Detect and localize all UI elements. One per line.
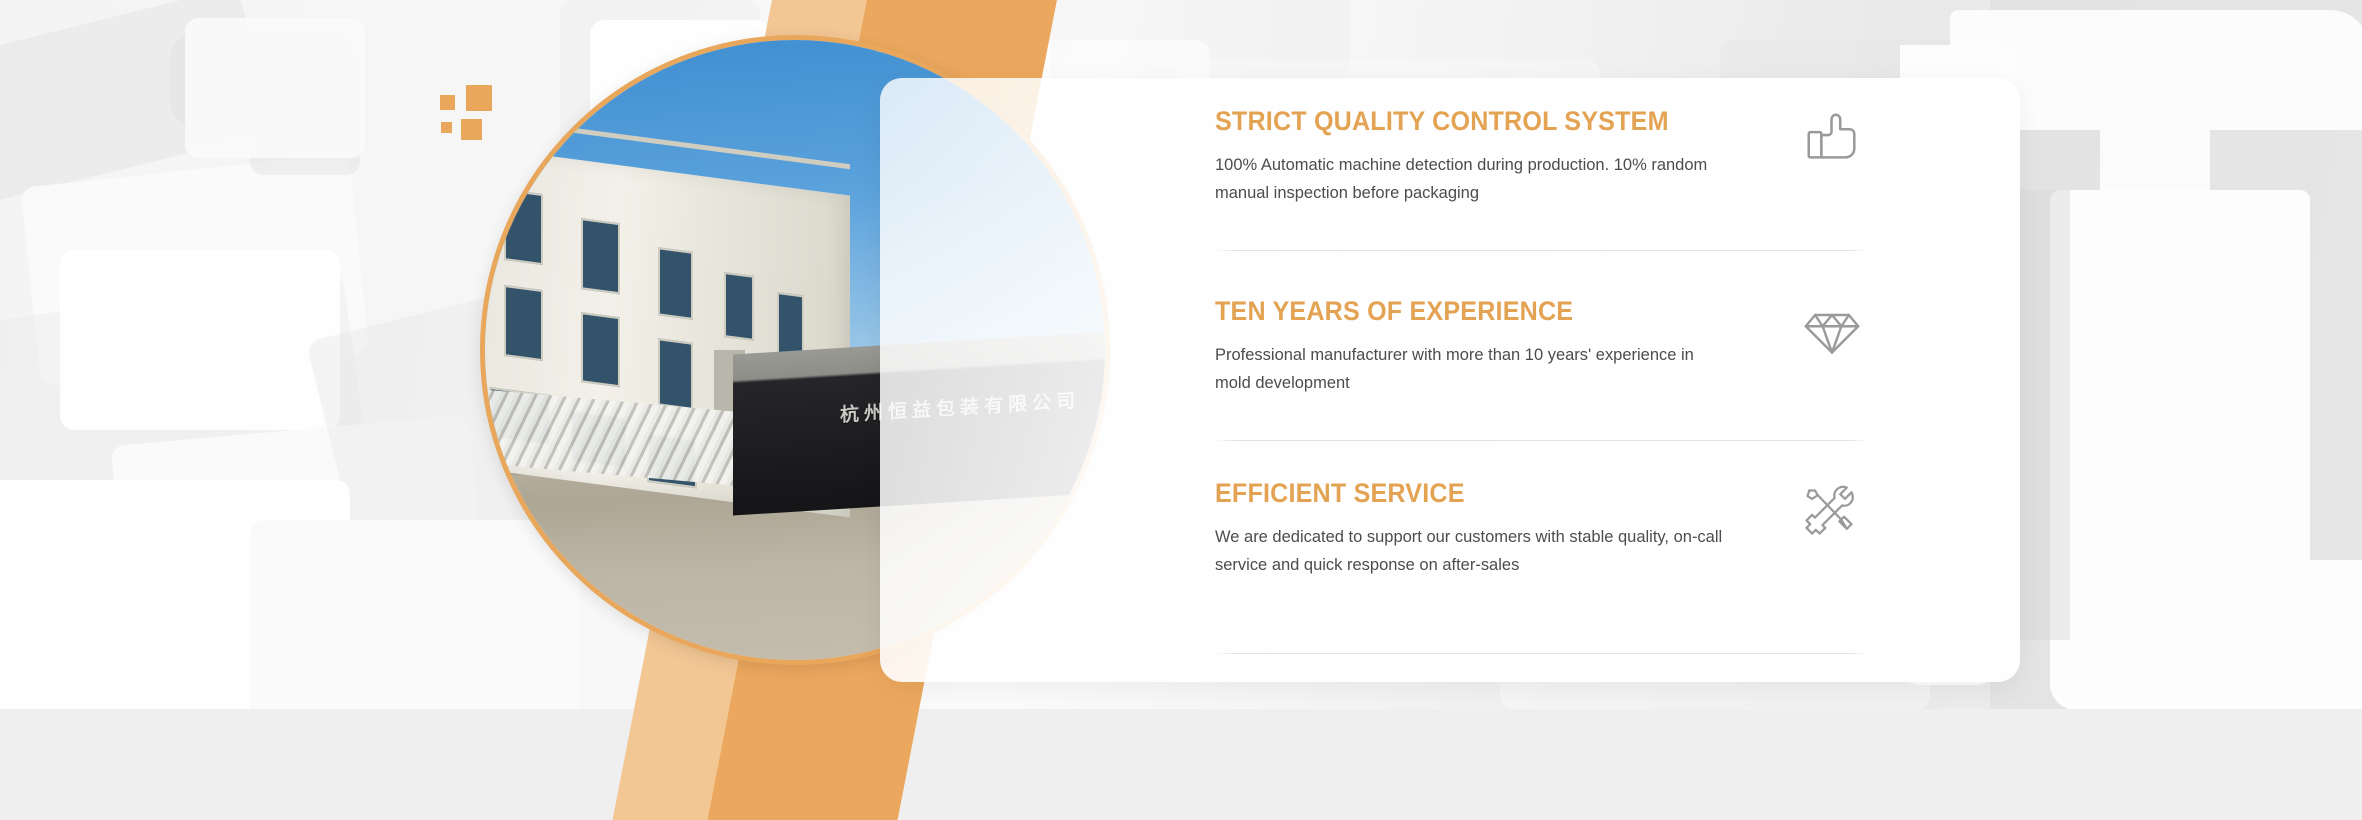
feature-description: We are dedicated to support our customer…: [1215, 523, 1729, 578]
feature-title: STRICT QUALITY CONTROL SYSTEM: [1215, 106, 1866, 137]
feature-divider: [1215, 440, 1868, 441]
feature-description: Professional manufacturer with more than…: [1215, 341, 1729, 396]
feature-divider: [1215, 653, 1868, 654]
decor-square-medium: [461, 119, 482, 140]
feature-card: STRICT QUALITY CONTROL SYSTEM 100% Autom…: [880, 78, 2020, 682]
feature-title: TEN YEARS OF EXPERIENCE: [1215, 296, 1866, 327]
feature-description: 100% Automatic machine detection during …: [1215, 151, 1729, 206]
decor-square-small: [440, 95, 455, 110]
feature-title: EFFICIENT SERVICE: [1215, 478, 1866, 509]
feature-divider: [1215, 250, 1868, 251]
decor-square-tiny: [441, 122, 452, 133]
wrench-screwdriver-icon: [881, 78, 943, 140]
